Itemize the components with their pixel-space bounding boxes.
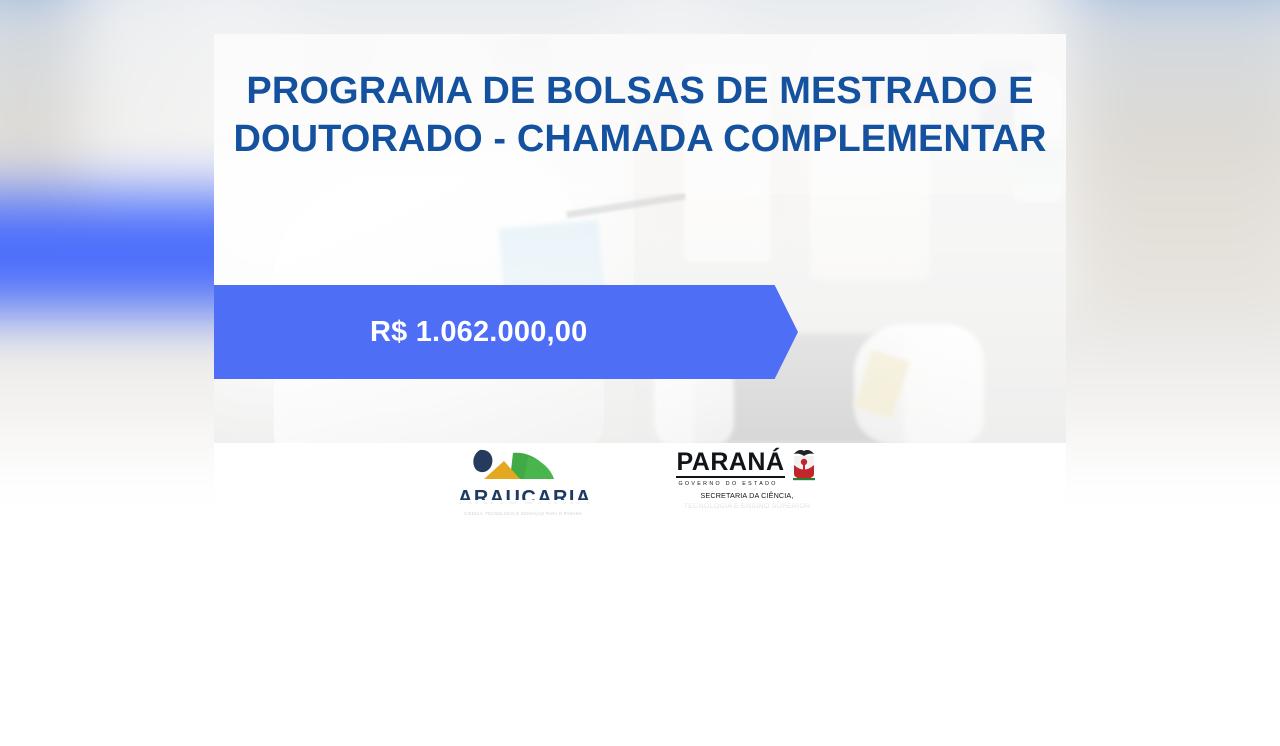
araucaria-mark-icon bbox=[458, 447, 588, 487]
parana-wordmark-row: PARANÁ GOVERNO DO ESTADO bbox=[672, 447, 822, 487]
poster-card: PROGRAMA DE BOLSAS DE MESTRADO E DOUTORA… bbox=[214, 34, 1066, 534]
funding-value-banner: R$ 1.062.000,00 bbox=[214, 285, 798, 379]
page-title: PROGRAMA DE BOLSAS DE MESTRADO E DOUTORA… bbox=[214, 68, 1066, 163]
araucaria-logo: ARAUCARIA CIÊNCIA, TECNOLOGIA E INOVAÇÃO… bbox=[458, 447, 588, 516]
funding-value-text: R$ 1.062.000,00 bbox=[370, 316, 587, 349]
parana-government-logo: PARANÁ GOVERNO DO ESTADO SECRETARIA DA C… bbox=[672, 447, 822, 511]
logo-footer: ARAUCARIA CIÊNCIA, TECNOLOGIA E INOVAÇÃO… bbox=[214, 443, 1066, 534]
parana-subtitle: GOVERNO DO ESTADO bbox=[676, 481, 784, 487]
araucaria-tagline: CIÊNCIA, TECNOLOGIA E INOVAÇÃO PARA O PA… bbox=[458, 511, 588, 516]
parana-coat-of-arms-icon bbox=[790, 447, 818, 487]
parana-wordmark: PARANÁ bbox=[676, 451, 784, 478]
araucaria-wordmark: ARAUCARIA bbox=[458, 488, 588, 508]
parana-secretariat-label: SECRETARIA DA CIÊNCIA, TECNOLOGIA E ENSI… bbox=[672, 491, 822, 511]
laboratory-photo: PROGRAMA DE BOLSAS DE MESTRADO E DOUTORA… bbox=[214, 34, 1066, 443]
